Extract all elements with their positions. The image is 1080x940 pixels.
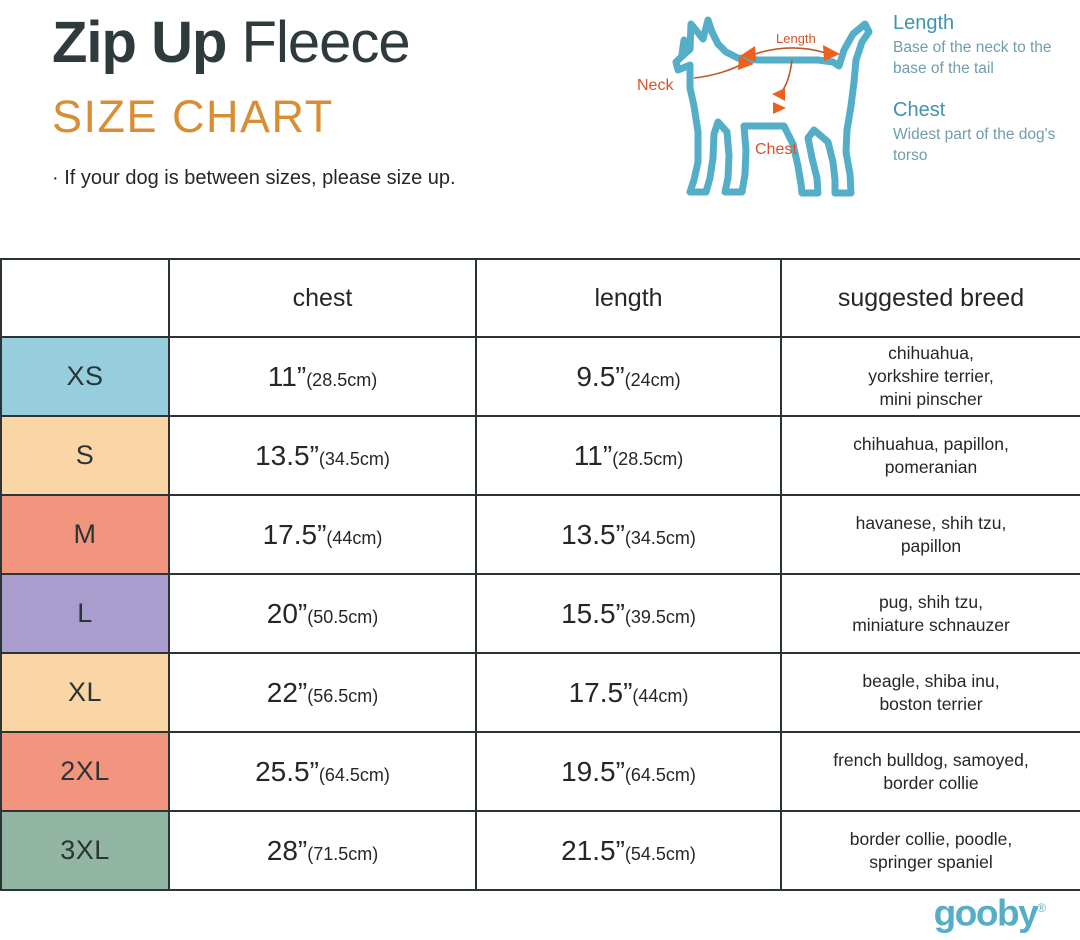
chest-inches: 11” [268,361,306,392]
legend-description: Base of the neck to the base of the tail [893,37,1073,79]
chest-measurement-cell: 28”(71.5cm) [169,811,476,890]
column-header-length: length [476,259,781,337]
table-body: XS11”(28.5cm)9.5”(24cm)chihuahua,yorkshi… [1,337,1080,890]
size-label-cell: 2XL [1,732,169,811]
table-row: 2XL25.5”(64.5cm)19.5”(64.5cm)french bull… [1,732,1080,811]
table-header: chest length suggested breed [1,259,1080,337]
chest-centimeters: (64.5cm) [319,765,390,785]
length-centimeters: (44cm) [632,686,688,706]
chest-centimeters: (71.5cm) [307,844,378,864]
length-centimeters: (28.5cm) [612,449,683,469]
size-label-cell: L [1,574,169,653]
table-header-row: chest length suggested breed [1,259,1080,337]
chest-inches: 22” [267,677,307,708]
column-header-chest: chest [169,259,476,337]
legend-item-length: Length Base of the neck to the base of t… [893,10,1073,79]
length-measurement-cell: 9.5”(24cm) [476,337,781,416]
size-table: chest length suggested breed XS11”(28.5c… [0,258,1080,891]
length-inches: 17.5” [569,677,633,708]
chest-inches: 20” [267,598,307,629]
length-inches: 9.5” [576,361,624,392]
suggested-breed-cell: havanese, shih tzu,papillon [781,495,1080,574]
suggested-breed-cell: pug, shih tzu,miniature schnauzer [781,574,1080,653]
sizing-note: · If your dog is between sizes, please s… [52,165,456,191]
diagram-label-chest: Chest [755,141,797,158]
column-header-breed: suggested breed [781,259,1080,337]
column-header-size [1,259,169,337]
dog-outline-icon [676,20,869,193]
table-row: M17.5”(44cm)13.5”(34.5cm)havanese, shih … [1,495,1080,574]
suggested-breed-cell: french bulldog, samoyed,border collie [781,732,1080,811]
suggested-breed-cell: beagle, shiba inu,boston terrier [781,653,1080,732]
suggested-breed-cell: chihuahua,yorkshire terrier,mini pinsche… [781,337,1080,416]
diagram-label-neck: Neck [637,77,674,94]
registered-trademark-icon: ® [1037,901,1046,915]
chest-centimeters: (28.5cm) [306,370,377,390]
length-centimeters: (39.5cm) [625,607,696,627]
length-measurement-cell: 13.5”(34.5cm) [476,495,781,574]
length-inches: 11” [574,440,612,471]
chest-centimeters: (34.5cm) [319,449,390,469]
table-row: S13.5”(34.5cm)11”(28.5cm)chihuahua, papi… [1,416,1080,495]
chest-inches: 28” [267,835,307,866]
size-label-cell: 3XL [1,811,169,890]
gooby-logo: gooby® [934,890,1046,931]
legend-description: Widest part of the dog's torso [893,124,1073,166]
table-row: L20”(50.5cm)15.5”(39.5cm)pug, shih tzu,m… [1,574,1080,653]
length-centimeters: (34.5cm) [625,528,696,548]
chest-centimeters: (50.5cm) [307,607,378,627]
chest-measurement-cell: 17.5”(44cm) [169,495,476,574]
chest-arrow-icon [772,60,792,114]
legend-title: Chest [893,97,1073,124]
legend-item-chest: Chest Widest part of the dog's torso [893,97,1073,166]
length-centimeters: (24cm) [625,370,681,390]
header: Zip Up Fleece SIZE CHART · If your dog i… [0,0,620,250]
length-inches: 15.5” [561,598,625,629]
suggested-breed-cell: chihuahua, papillon,pomeranian [781,416,1080,495]
diagram-label-length: Length [776,31,816,46]
neck-arrow-icon [694,56,754,78]
size-label-cell: S [1,416,169,495]
legend-title: Length [893,10,1073,37]
table-row: XS11”(28.5cm)9.5”(24cm)chihuahua,yorkshi… [1,337,1080,416]
size-label-cell: XL [1,653,169,732]
length-inches: 21.5” [561,835,625,866]
table-row: XL22”(56.5cm)17.5”(44cm)beagle, shiba in… [1,653,1080,732]
page-title-light: Fleece [242,10,410,75]
length-inches: 19.5” [561,756,625,787]
table-row: 3XL28”(71.5cm)21.5”(54.5cm)border collie… [1,811,1080,890]
length-centimeters: (64.5cm) [625,765,696,785]
suggested-breed-cell: border collie, poodle,springer spaniel [781,811,1080,890]
chest-inches: 13.5” [255,440,319,471]
size-label-cell: XS [1,337,169,416]
chest-inches: 17.5” [263,519,327,550]
size-label-cell: M [1,495,169,574]
chest-measurement-cell: 13.5”(34.5cm) [169,416,476,495]
size-chart-page: Zip Up Fleece SIZE CHART · If your dog i… [0,0,1080,940]
length-measurement-cell: 21.5”(54.5cm) [476,811,781,890]
chest-measurement-cell: 11”(28.5cm) [169,337,476,416]
length-measurement-cell: 15.5”(39.5cm) [476,574,781,653]
chest-measurement-cell: 20”(50.5cm) [169,574,476,653]
size-table-wrapper: chest length suggested breed XS11”(28.5c… [0,258,1080,891]
measurement-legend: Length Base of the neck to the base of t… [893,10,1073,184]
logo-text: gooby [934,892,1037,933]
dog-measurement-diagram: Neck Length Chest [628,2,883,198]
length-centimeters: (54.5cm) [625,844,696,864]
page-title: Zip Up Fleece [52,12,410,74]
chest-measurement-cell: 22”(56.5cm) [169,653,476,732]
chest-centimeters: (56.5cm) [307,686,378,706]
page-subtitle: SIZE CHART [52,92,334,142]
length-measurement-cell: 17.5”(44cm) [476,653,781,732]
chest-centimeters: (44cm) [326,528,382,548]
chest-inches: 25.5” [255,756,319,787]
length-inches: 13.5” [561,519,625,550]
chest-measurement-cell: 25.5”(64.5cm) [169,732,476,811]
length-measurement-cell: 19.5”(64.5cm) [476,732,781,811]
page-title-strong: Zip Up [52,10,226,75]
length-measurement-cell: 11”(28.5cm) [476,416,781,495]
